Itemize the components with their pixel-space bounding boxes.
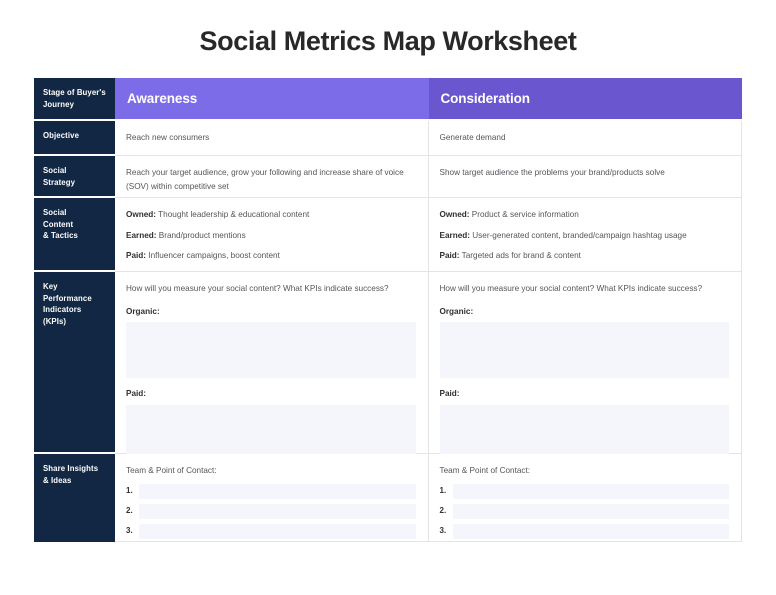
share-awareness-item-3-number: 3. xyxy=(126,524,139,537)
table-row-objective: Objective Reach new consumers Generate d… xyxy=(34,121,742,156)
share-consideration-cell: Team & Point of Contact: 1. 2. 3. xyxy=(429,454,743,542)
kpis-awareness-organic-input[interactable] xyxy=(126,322,416,378)
row-label-stage-line2: Journey xyxy=(43,99,106,111)
row-label-share-line1: Share Insights xyxy=(43,463,115,475)
tactics-awareness-owned-label: Owned: xyxy=(126,210,156,219)
table-row-social-content-tactics: Social Content & Tactics Owned: Thought … xyxy=(34,198,742,272)
share-awareness-item-2-number: 2. xyxy=(126,504,139,517)
tactics-awareness-value: Owned: Thought leadership & educational … xyxy=(115,198,429,272)
strategy-consideration-value: Show target audience the problems your b… xyxy=(429,156,743,198)
page-title: Social Metrics Map Worksheet xyxy=(0,0,776,57)
table-row-kpis: Key Performance Indicators (KPIs) How wi… xyxy=(34,272,742,454)
column-header-consideration: Consideration xyxy=(429,78,743,121)
row-label-kpis-line2: Performance xyxy=(43,293,115,305)
row-label-objective: Objective xyxy=(34,121,115,156)
share-awareness-item-3-input[interactable] xyxy=(139,524,416,539)
row-label-tactics-line2: Content xyxy=(43,219,115,231)
list-item: 1. xyxy=(126,484,416,499)
tactics-consideration-paid-text: Targeted ads for brand & content xyxy=(460,251,581,260)
share-awareness-item-1-input[interactable] xyxy=(139,484,416,499)
table-row-social-strategy: Social Strategy Reach your target audien… xyxy=(34,156,742,198)
row-label-kpis-line1: Key xyxy=(43,281,115,293)
tactics-consideration-earned-text: User-generated content, branded/campaign… xyxy=(470,231,687,240)
tactics-consideration-earned-label: Earned: xyxy=(440,231,470,240)
tactics-awareness-earned-label: Earned: xyxy=(126,231,156,240)
share-awareness-cell: Team & Point of Contact: 1. 2. 3. xyxy=(115,454,429,542)
row-label-social-strategy: Social Strategy xyxy=(34,156,115,198)
row-label-share-insights-ideas: Share Insights & Ideas xyxy=(34,454,115,542)
tactics-awareness-earned-text: Brand/product mentions xyxy=(156,231,245,240)
share-awareness-contact-label: Team & Point of Contact: xyxy=(126,464,416,478)
list-item: 3. xyxy=(126,524,416,539)
tactics-consideration-owned-label: Owned: xyxy=(440,210,470,219)
tactics-awareness-owned: Owned: Thought leadership & educational … xyxy=(126,208,416,222)
row-label-tactics-line3: & Tactics xyxy=(43,230,115,242)
row-label-tactics-line1: Social xyxy=(43,207,115,219)
list-item: 2. xyxy=(126,504,416,519)
list-item: 2. xyxy=(440,504,730,519)
share-consideration-contact-label: Team & Point of Contact: xyxy=(440,464,730,478)
objective-consideration-value: Generate demand xyxy=(429,121,743,156)
kpis-awareness-question: How will you measure your social content… xyxy=(126,282,416,296)
share-consideration-item-3-number: 3. xyxy=(440,524,453,537)
share-consideration-item-3-input[interactable] xyxy=(453,524,730,539)
strategy-awareness-value: Reach your target audience, grow your fo… xyxy=(115,156,429,198)
tactics-consideration-paid: Paid: Targeted ads for brand & content xyxy=(440,249,730,263)
objective-awareness-value: Reach new consumers xyxy=(115,121,429,156)
kpis-consideration-paid-label: Paid: xyxy=(440,387,730,401)
kpis-awareness-cell: How will you measure your social content… xyxy=(115,272,429,454)
row-label-kpis-line3: Indicators xyxy=(43,304,115,316)
tactics-consideration-earned: Earned: User-generated content, branded/… xyxy=(440,229,730,243)
row-label-social-content-tactics: Social Content & Tactics xyxy=(34,198,115,272)
row-label-share-line2: & Ideas xyxy=(43,475,115,487)
kpis-awareness-paid-input[interactable] xyxy=(126,405,416,460)
share-consideration-item-2-number: 2. xyxy=(440,504,453,517)
tactics-consideration-value: Owned: Product & service information Ear… xyxy=(429,198,743,272)
row-label-stage-line1: Stage of Buyer's xyxy=(43,87,106,99)
list-item: 3. xyxy=(440,524,730,539)
share-consideration-item-1-input[interactable] xyxy=(453,484,730,499)
share-awareness-item-2-input[interactable] xyxy=(139,504,416,519)
row-label-kpis-line4: (KPIs) xyxy=(43,316,115,328)
tactics-awareness-owned-text: Thought leadership & educational content xyxy=(156,210,309,219)
tactics-consideration-owned-text: Product & service information xyxy=(470,210,579,219)
table-row-share-insights-ideas: Share Insights & Ideas Team & Point of C… xyxy=(34,454,742,542)
tactics-awareness-paid-label: Paid: xyxy=(126,251,146,260)
tactics-consideration-owned: Owned: Product & service information xyxy=(440,208,730,222)
list-item: 1. xyxy=(440,484,730,499)
kpis-consideration-cell: How will you measure your social content… xyxy=(429,272,743,454)
tactics-awareness-earned: Earned: Brand/product mentions xyxy=(126,229,416,243)
tactics-awareness-paid-text: Influencer campaigns, boost content xyxy=(146,251,280,260)
kpis-consideration-organic-label: Organic: xyxy=(440,305,730,319)
row-label-strategy-line1: Social xyxy=(43,165,115,177)
worksheet-table: Stage of Buyer's Journey Awareness Consi… xyxy=(34,78,742,542)
tactics-awareness-paid: Paid: Influencer campaigns, boost conten… xyxy=(126,249,416,263)
kpis-consideration-paid-input[interactable] xyxy=(440,405,730,460)
row-label-strategy-line2: Strategy xyxy=(43,177,115,189)
kpis-awareness-paid-label: Paid: xyxy=(126,387,416,401)
kpis-consideration-question: How will you measure your social content… xyxy=(440,282,730,296)
table-row-stage: Stage of Buyer's Journey Awareness Consi… xyxy=(34,78,742,121)
kpis-awareness-organic-label: Organic: xyxy=(126,305,416,319)
column-header-awareness: Awareness xyxy=(115,78,429,121)
share-awareness-item-1-number: 1. xyxy=(126,484,139,497)
row-label-key-performance-indicators: Key Performance Indicators (KPIs) xyxy=(34,272,115,454)
share-consideration-item-2-input[interactable] xyxy=(453,504,730,519)
row-label-stage-of-buyers-journey: Stage of Buyer's Journey xyxy=(34,78,115,121)
tactics-consideration-paid-label: Paid: xyxy=(440,251,460,260)
kpis-consideration-organic-input[interactable] xyxy=(440,322,730,378)
share-consideration-item-1-number: 1. xyxy=(440,484,453,497)
